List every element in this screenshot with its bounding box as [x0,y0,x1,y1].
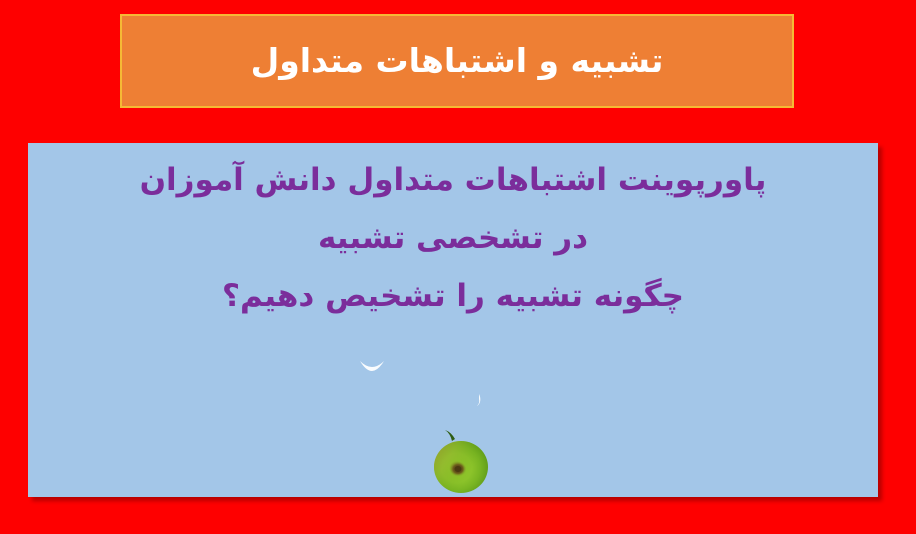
content-text-block: پاورپوینت اشتباهات متداول دانش آموزان در… [28,151,878,325]
slide-title-text: تشبیه و اشتباهات متداول [251,43,664,79]
seagull-large-icon [359,359,385,375]
slide-title-banner: تشبیه و اشتباهات متداول [120,14,794,108]
green-apple-icon [432,428,490,494]
content-line-2: در تشخصی تشبیه [28,209,878,267]
seagull-small-icon [474,394,486,407]
slide-content-panel: پاورپوینت اشتباهات متداول دانش آموزان در… [28,143,878,497]
content-line-3: چگونه تشبیه را تشخیص دهیم؟ [28,267,878,325]
presentation-slide: تشبیه و اشتباهات متداول پاورپوینت اشتباه… [0,0,916,534]
content-line-1: پاورپوینت اشتباهات متداول دانش آموزان [28,151,878,209]
